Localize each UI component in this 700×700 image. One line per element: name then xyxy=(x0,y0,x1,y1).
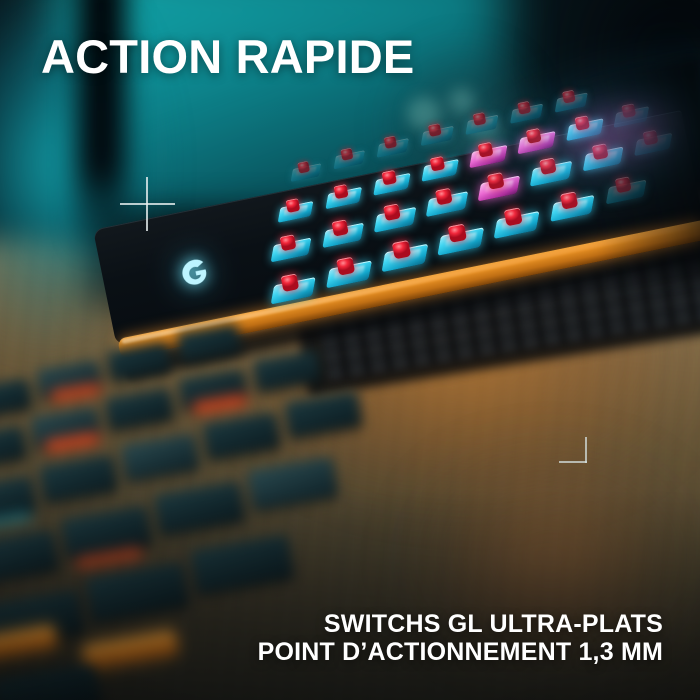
keyboard-switch xyxy=(554,88,588,113)
keyboard-switch xyxy=(633,127,673,155)
keyboard-switch xyxy=(380,237,428,272)
keyboard-switch xyxy=(424,185,468,216)
keyboard-switch xyxy=(492,204,540,238)
keyboard-switch xyxy=(612,101,649,127)
crosshair-vertical xyxy=(146,177,148,231)
corner-bracket-vertical xyxy=(585,437,587,463)
keyboard-switch xyxy=(332,146,365,169)
corner-bracket-mark-icon xyxy=(559,437,587,463)
footer-copy: SWITCHS GL ULTRA-PLATS POINT D’ACTIONNEM… xyxy=(258,610,663,666)
keyboard-switch xyxy=(464,110,498,135)
marketing-banner: ACTION RAPIDE SWITCHS GL ULTRA-PLATS POI… xyxy=(0,0,700,700)
keyboard-switch xyxy=(468,139,508,167)
headline: ACTION RAPIDE xyxy=(41,33,414,82)
crosshair-mark-icon xyxy=(120,177,175,231)
keyboard-switch xyxy=(372,201,416,232)
keyboard-switch xyxy=(565,113,604,141)
keyboard-switch xyxy=(276,196,313,222)
keyboard-switch xyxy=(325,254,373,288)
footer-copy-line-1: SWITCHS GL ULTRA-PLATS xyxy=(258,610,663,638)
keyboard-switch xyxy=(375,133,408,157)
keyboard-switch xyxy=(549,188,595,221)
keyboard-switch xyxy=(516,125,556,153)
keyboard-switch xyxy=(372,167,411,195)
hero-keyboard xyxy=(93,106,700,455)
footer-copy-line-2: POINT D’ACTIONNEMENT 1,3 MM xyxy=(258,638,663,666)
keyboard-switch xyxy=(324,182,362,209)
corner-bracket-horizontal xyxy=(559,461,587,463)
keyboard-switch xyxy=(604,174,646,204)
keyboard-switch xyxy=(269,270,316,303)
keyboard-switch xyxy=(509,99,543,124)
keyboard-switch xyxy=(290,159,322,182)
keyboard-switch xyxy=(528,155,572,186)
keyboard-switch xyxy=(581,141,623,171)
bottom-scrim xyxy=(0,490,700,700)
keyboard-switch xyxy=(420,154,459,182)
keyboard-switch xyxy=(321,217,364,248)
keyboard-switch xyxy=(476,169,520,200)
keyboard-switch xyxy=(269,232,311,262)
keyboard-switch xyxy=(420,121,454,146)
keyboard-switch xyxy=(436,220,484,255)
